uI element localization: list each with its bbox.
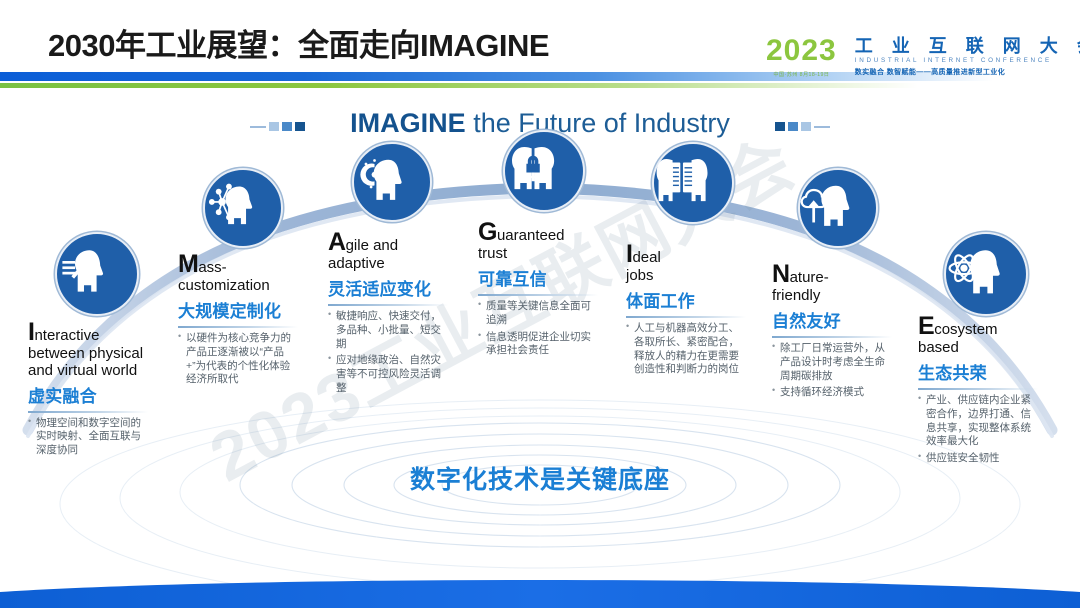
skyline-footer xyxy=(0,100,1080,608)
slide-body: IMAGINE the Future of Industry 2023工业互联网… xyxy=(0,100,1080,608)
slide-header: 2030年工业展望：全面走向IMAGINE 2023 中国·苏州 8月18-19… xyxy=(0,0,1080,100)
page-title: 2030年工业展望：全面走向IMAGINE xyxy=(48,20,549,65)
logo-tagline: 数实融合 数智赋能——高质量推进新型工业化 xyxy=(855,67,1080,77)
logo-chinese-name: 工 业 互 联 网 大 会 xyxy=(855,37,1080,56)
logo-year-block: 2023 中国·苏州 8月18-19日 xyxy=(766,36,837,78)
conference-logo: 2023 中国·苏州 8月18-19日 工 业 互 联 网 大 会 INDUST… xyxy=(766,27,1066,87)
logo-year-subtitle: 中国·苏州 8月18-19日 xyxy=(766,71,837,78)
logo-english-name: INDUSTRIAL INTERNET CONFERENCE xyxy=(855,57,1080,64)
logo-text-block: 工 业 互 联 网 大 会 INDUSTRIAL INTERNET CONFER… xyxy=(855,37,1080,78)
logo-year: 2023 xyxy=(766,36,837,66)
